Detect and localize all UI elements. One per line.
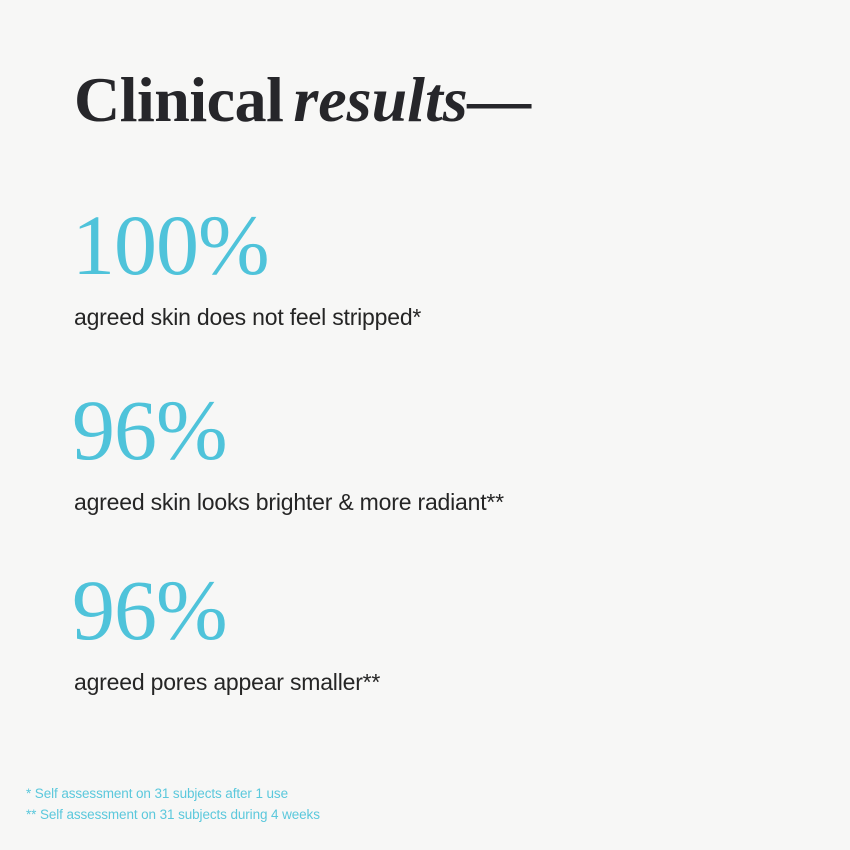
- clinical-results-panel: Clinicalresults— 100% agreed skin does n…: [0, 0, 850, 850]
- stat-caption: agreed pores appear smaller**: [74, 668, 794, 697]
- page-title-roman: Clinical: [74, 64, 283, 135]
- stat-value: 96%: [72, 571, 794, 650]
- footnote-single-asterisk: * Self assessment on 31 subjects after 1…: [26, 783, 320, 804]
- page-title: Clinicalresults—: [74, 68, 532, 132]
- footnote-double-asterisk: ** Self assessment on 31 subjects during…: [26, 804, 320, 825]
- stat-item: 96% agreed pores appear smaller**: [74, 571, 794, 697]
- stat-value: 96%: [72, 391, 794, 470]
- stat-value: 100%: [72, 206, 794, 285]
- stat-caption: agreed skin does not feel stripped*: [74, 303, 794, 332]
- stat-caption: agreed skin looks brighter & more radian…: [74, 488, 794, 517]
- stat-item: 96% agreed skin looks brighter & more ra…: [74, 391, 794, 517]
- page-title-italic: results—: [293, 64, 531, 135]
- stat-item: 100% agreed skin does not feel stripped*: [74, 206, 794, 332]
- footnote-list: * Self assessment on 31 subjects after 1…: [26, 783, 320, 825]
